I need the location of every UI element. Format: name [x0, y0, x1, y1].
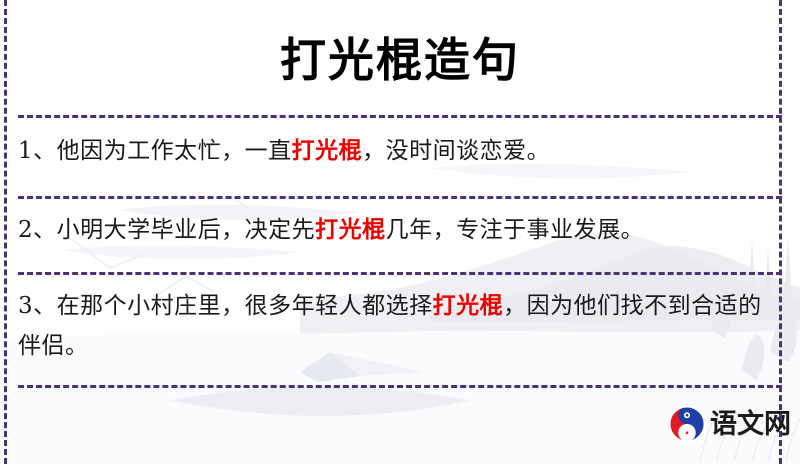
sentence-number: 2、 — [18, 217, 57, 243]
sentence-number: 1、 — [18, 138, 57, 164]
sentence-item: 3、在那个小村庄里，很多年轻人都选择打光棍，因为他们找不到合适的伴侣。 — [18, 286, 784, 366]
sentence-text-before: 小明大学毕业后，决定先 — [57, 217, 316, 243]
sentence-keyword: 打光棍 — [315, 216, 386, 243]
separator-line-2 — [18, 196, 782, 199]
separator-line-1 — [18, 115, 782, 118]
sentence-keyword: 打光棍 — [433, 292, 504, 319]
frame-border-right — [779, 0, 782, 464]
sentence-item: 1、他因为工作太忙，一直打光棍，没时间谈恋爱。 — [18, 131, 784, 171]
sentence-number: 3、 — [18, 293, 57, 319]
site-logo[interactable]: 语文网 — [668, 405, 791, 443]
separator-line-3 — [18, 272, 782, 275]
slide-page: 打光棍造句 1、他因为工作太忙，一直打光棍，没时间谈恋爱。 2、小明大学毕业后，… — [0, 0, 800, 464]
sentence-keyword: 打光棍 — [292, 137, 363, 164]
page-title: 打光棍造句 — [0, 24, 800, 90]
sentence-text-before: 在那个小村庄里，很多年轻人都选择 — [57, 293, 433, 319]
site-logo-text: 语文网 — [710, 411, 791, 438]
sentence-text-before: 他因为工作太忙，一直 — [57, 138, 292, 164]
sentence-text-after: ，没时间谈恋爱。 — [362, 138, 550, 164]
sentence-item: 2、小明大学毕业后，决定先打光棍几年，专注于事业发展。 — [18, 210, 784, 250]
separator-line-4 — [18, 385, 782, 388]
sentence-text-after: 几年，专注于事业发展。 — [386, 217, 645, 243]
yinyang-fish-logo-icon — [668, 405, 706, 443]
frame-border-left — [4, 0, 7, 464]
